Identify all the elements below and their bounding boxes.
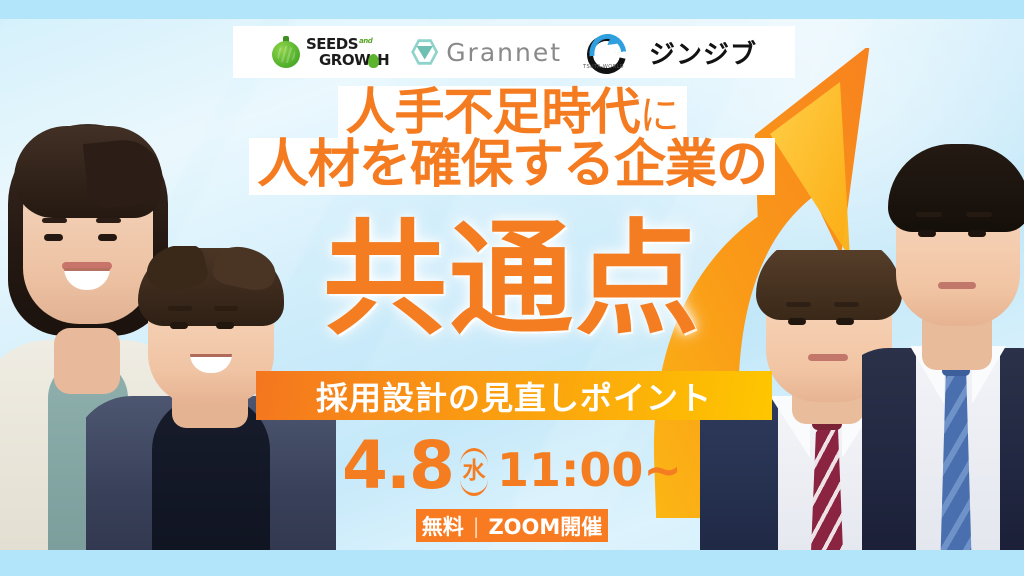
eyebrow-left [916, 212, 942, 217]
leaf-icon [368, 54, 379, 68]
badge-separator: | [473, 514, 480, 538]
green-melon-icon [271, 36, 301, 68]
event-day-of-week: 水 [457, 450, 491, 492]
subtitle-band: 採用設計の見直しポイント [256, 371, 772, 420]
headline-line-2: 人材を確保する企業の [257, 135, 767, 195]
jinjibu-text: ジンジブ [649, 34, 757, 71]
headline-block: 人手不足時代に 人材を確保する企業の [0, 86, 1024, 195]
bracket-bottom-icon [460, 479, 488, 496]
webinar-banner: SEEDSand GROWH Grannet TSUTA-WORLD [0, 0, 1024, 576]
badge-platform: ZOOM開催 [488, 511, 602, 541]
headline-line-1: 人手不足時代 [346, 83, 640, 141]
event-month-day: 4.8 [342, 434, 453, 499]
melon [272, 41, 300, 68]
eyebrow-right [966, 212, 992, 217]
headline-line-2-row: 人材を確保する企業の [0, 138, 1024, 195]
logo-grannet: Grannet [411, 38, 562, 67]
top-color-bar [0, 0, 1024, 19]
event-date-block: 4.8 水 11:00~ [0, 434, 1024, 499]
subtitle-text: 採用設計の見直しポイント [316, 373, 712, 419]
grannet-text: Grannet [446, 38, 562, 67]
badge-price: 無料 [422, 511, 464, 541]
logo-text: SEEDSand GROWH [306, 37, 389, 68]
event-time: 11:00~ [497, 447, 682, 493]
headline-line-1-suffix: に [640, 93, 679, 139]
tsuta-world-caption: TSUTA-WORLD [583, 64, 624, 70]
logo-seeds-and-growth: SEEDSand GROWH [271, 36, 389, 68]
event-badge: 無料 | ZOOM開催 [416, 509, 608, 542]
logo-jinjibu: ジンジブ [649, 34, 757, 71]
sponsor-logo-bar: SEEDSand GROWH Grannet TSUTA-WORLD [233, 26, 795, 78]
headline-emphasis-row: 共通点 [0, 218, 1024, 342]
headline-emphasis: 共通点 [323, 208, 701, 352]
hexagon-icon [411, 39, 438, 66]
headline-line-1-row: 人手不足時代に [0, 86, 1024, 141]
bottom-color-bar [0, 550, 1024, 576]
swirl-arrow-icon: TSUTA-WORLD [584, 34, 618, 70]
and-text: and [359, 37, 372, 45]
growth-text-a: GROW [319, 51, 370, 69]
mouth [808, 354, 848, 361]
logo-tsuta-world: TSUTA-WORLD [584, 34, 627, 70]
growth-text-b: H [377, 51, 389, 69]
